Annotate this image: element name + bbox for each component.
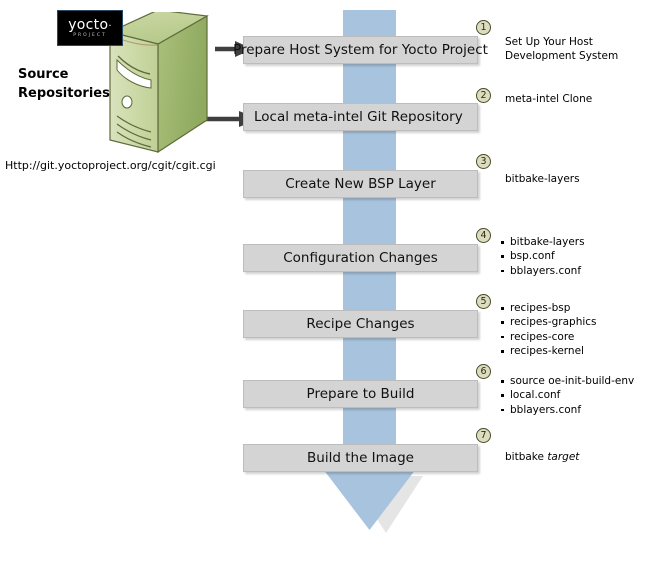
step-annotation-6-list: source oe-init-build-env local.conf bbla…	[500, 374, 634, 417]
yocto-logo-subtitle: PROJECT	[73, 34, 106, 39]
step-label-5: Recipe Changes	[306, 316, 414, 332]
source-repositories-label: Source Repositories	[18, 66, 118, 104]
step-number-2: 2	[476, 88, 491, 103]
step-box-7[interactable]: Build the Image	[243, 444, 478, 472]
step-annotation-1: Set Up Your Host Development System	[505, 35, 618, 64]
step-number-3: 3	[476, 154, 491, 169]
step-annotation-3: bitbake-layers	[505, 172, 580, 186]
step-label-3: Create New BSP Layer	[285, 176, 436, 192]
step-annotation-4-bullet-3: bblayers.conf	[500, 264, 585, 278]
step-label-7: Build the Image	[307, 450, 414, 466]
step-annotation-7-line-1: bitbake target	[505, 450, 579, 464]
source-repository-url: Http://git.yoctoproject.org/cgit/cgit.cg…	[5, 159, 216, 172]
step-number-5: 5	[476, 294, 491, 309]
step-annotation-5-bullet-4: recipes-kernel	[500, 344, 597, 358]
yocto-project-logo: yocto· PROJECT	[57, 10, 123, 46]
step-number-4: 4	[476, 228, 491, 243]
step-annotation-6: source oe-init-build-env local.conf bbla…	[500, 374, 634, 417]
step-annotation-5-list: recipes-bsp recipes-graphics recipes-cor…	[500, 301, 597, 359]
step-box-4[interactable]: Configuration Changes	[243, 244, 478, 272]
step-annotation-5-bullet-1: recipes-bsp	[500, 301, 597, 315]
step-annotation-2-line-1: meta-intel Clone	[505, 92, 592, 106]
step-number-1: 1	[476, 20, 491, 35]
step-annotation-4: bitbake-layers bsp.conf bblayers.conf	[500, 235, 585, 278]
step-number-7: 7	[476, 428, 491, 443]
step-annotation-4-bullet-2: bsp.conf	[500, 249, 585, 263]
step-box-5[interactable]: Recipe Changes	[243, 310, 478, 338]
step-annotation-7-command: bitbake	[505, 451, 547, 463]
step-annotation-4-bullet-1: bitbake-layers	[500, 235, 585, 249]
step-annotation-6-bullet-1: source oe-init-build-env	[500, 374, 634, 388]
step-label-4: Configuration Changes	[283, 250, 438, 266]
step-annotation-2: meta-intel Clone	[505, 92, 592, 106]
yocto-logo-dot: ·	[108, 21, 111, 32]
step-number-6: 6	[476, 364, 491, 379]
step-annotation-3-line-1: bitbake-layers	[505, 172, 580, 186]
step-label-6: Prepare to Build	[307, 386, 415, 402]
source-repositories-line1: Source	[18, 66, 118, 85]
diagram-canvas: yocto· PROJECT Source Repositories	[0, 0, 654, 564]
step-annotation-7: bitbake target	[505, 450, 579, 464]
step-box-6[interactable]: Prepare to Build	[243, 380, 478, 408]
step-annotation-5: recipes-bsp recipes-graphics recipes-cor…	[500, 301, 597, 359]
step-box-1[interactable]: Prepare Host System for Yocto Project	[243, 36, 478, 64]
yocto-logo-text: yocto	[68, 17, 108, 33]
step-box-3[interactable]: Create New BSP Layer	[243, 170, 478, 198]
yocto-logo-wordmark: yocto·	[68, 18, 112, 32]
step-box-2[interactable]: Local meta-intel Git Repository	[243, 103, 478, 131]
source-repositories-line2: Repositories	[18, 85, 118, 104]
step-annotation-6-bullet-2: local.conf	[500, 388, 634, 402]
step-annotation-5-bullet-3: recipes-core	[500, 330, 597, 344]
step-label-2: Local meta-intel Git Repository	[254, 109, 463, 125]
step-annotation-7-placeholder: target	[547, 451, 579, 463]
step-annotation-5-bullet-2: recipes-graphics	[500, 315, 597, 329]
step-label-1: Prepare Host System for Yocto Project	[233, 42, 488, 58]
step-annotation-4-list: bitbake-layers bsp.conf bblayers.conf	[500, 235, 585, 278]
step-annotation-1-line-2: Development System	[505, 49, 618, 63]
step-annotation-6-bullet-3: bblayers.conf	[500, 403, 634, 417]
step-annotation-1-line-1: Set Up Your Host	[505, 35, 618, 49]
